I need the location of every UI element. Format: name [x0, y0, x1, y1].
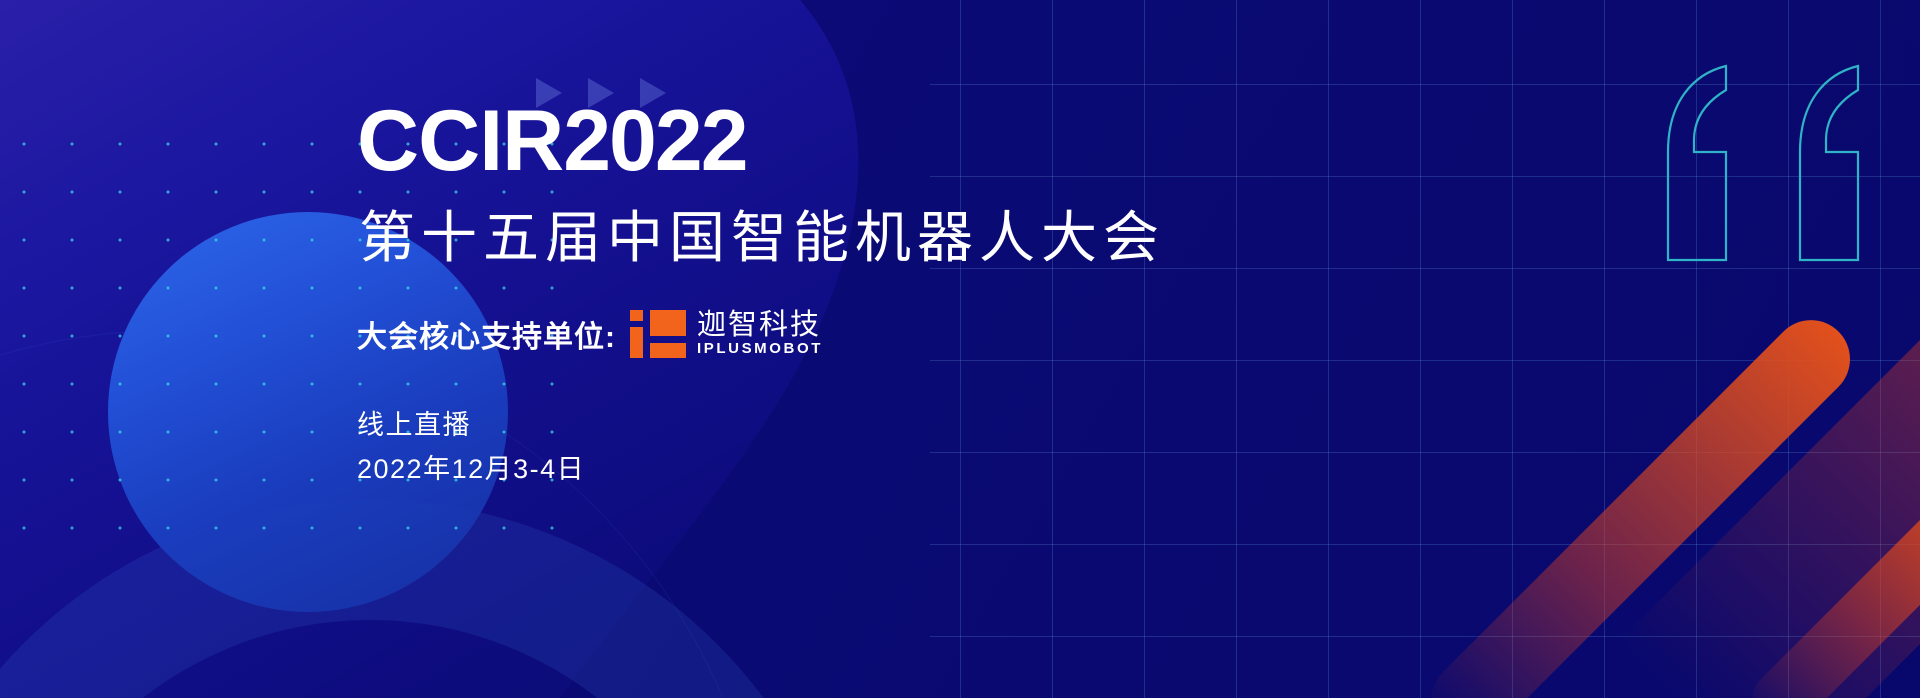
banner-content: CCIR2022 第十五届中国智能机器人大会 大会核心支持单位: 迦智科技 IP… [357, 98, 1257, 492]
logo-mark-bar [650, 343, 686, 358]
ccir-2022-conference-banner: CCIR2022 第十五届中国智能机器人大会 大会核心支持单位: 迦智科技 IP… [0, 0, 1920, 698]
logo-mark-stem [630, 327, 643, 358]
event-meta: 线上直播 2022年12月3-4日 [357, 403, 1257, 492]
event-title-acronym: CCIR [357, 93, 563, 189]
sponsor-row: 大会核心支持单位: 迦智科技 IPLUSMOBOT [357, 310, 1257, 359]
sponsor-logo-text: 迦智科技 IPLUSMOBOT [697, 310, 823, 359]
event-format: 线上直播 [357, 403, 1257, 448]
sponsor-logo: 迦智科技 IPLUSMOBOT [630, 310, 823, 359]
logo-mark-block [650, 310, 686, 336]
sponsor-label: 大会核心支持单位: [357, 312, 616, 356]
event-date: 2022年12月3-4日 [357, 447, 1257, 492]
event-subtitle: 第十五届中国智能机器人大会 [359, 210, 1257, 266]
iplusmobot-logo-icon [630, 310, 686, 358]
event-title: CCIR2022 [357, 98, 1257, 184]
logo-mark-dot [630, 310, 643, 321]
sponsor-name-cn: 迦智科技 [697, 310, 823, 340]
event-title-year: 2022 [563, 93, 746, 189]
sponsor-name-en: IPLUSMOBOT [697, 340, 823, 359]
